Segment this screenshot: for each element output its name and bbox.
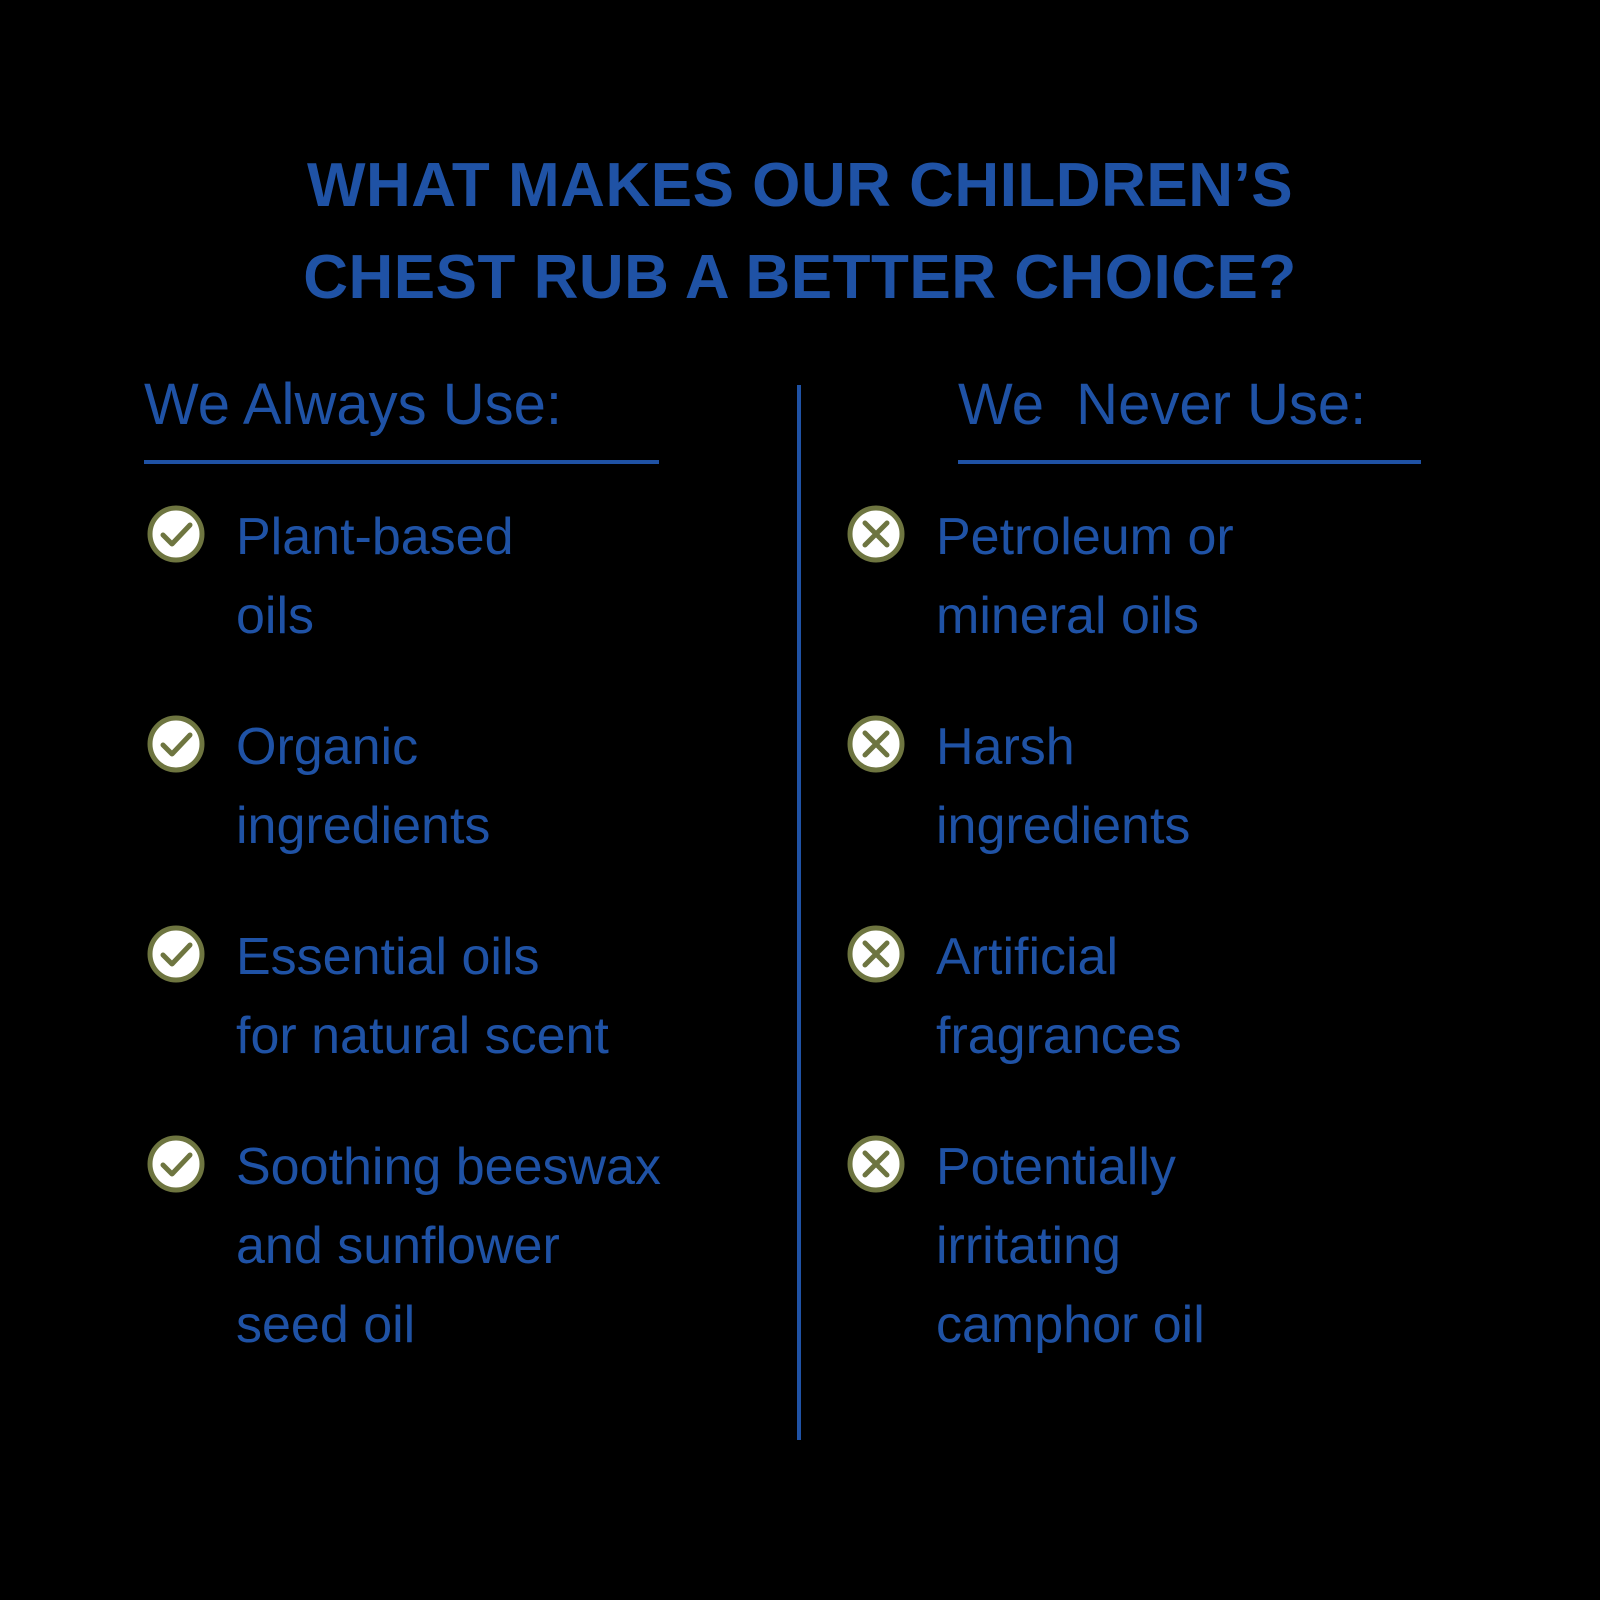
column-heading-never: We Never Use: [840,370,1480,440]
list-item-label: Potentially irritating camphor oil [936,1128,1480,1365]
list-item-label: Soothing beeswax and sunflower seed oil [236,1128,780,1365]
list-item-label: Harsh ingredients [936,708,1480,866]
x-circle-icon [846,504,906,564]
list-item: Soothing beeswax and sunflower seed oil [140,1128,780,1365]
list-item: Plant-based oils [140,498,780,656]
x-circle-icon [846,924,906,984]
column-always-use: We Always Use: Plant-based oils [140,370,780,1365]
list-item-label: Petroleum or mineral oils [936,498,1480,656]
list-item: Essential oils for natural scent [140,918,780,1076]
check-circle-icon [146,714,206,774]
title-line-2: CHEST RUB A BETTER CHOICE? [0,232,1600,324]
list-item: Artificial fragrances [840,918,1480,1076]
list-item-label: Plant-based oils [236,498,780,656]
page-title: WHAT MAKES OUR CHILDREN’S CHEST RUB A BE… [0,140,1600,324]
list-item-label: Organic ingredients [236,708,780,866]
list-item: Potentially irritating camphor oil [840,1128,1480,1365]
x-circle-icon [846,714,906,774]
infographic-canvas: WHAT MAKES OUR CHILDREN’S CHEST RUB A BE… [0,0,1600,1600]
check-circle-icon [146,1134,206,1194]
list-item-label: Artificial fragrances [936,918,1480,1076]
list-item-label: Essential oils for natural scent [236,918,780,1076]
list-item: Petroleum or mineral oils [840,498,1480,656]
list-item: Organic ingredients [140,708,780,866]
check-circle-icon [146,504,206,564]
list-item: Harsh ingredients [840,708,1480,866]
list-never-use: Petroleum or mineral oils Harsh ingredie… [840,498,1480,1365]
column-divider [797,385,801,1440]
column-heading-always: We Always Use: [140,370,780,440]
column-heading-underline-always [144,460,659,464]
column-heading-underline-never [958,460,1421,464]
list-always-use: Plant-based oils Organic ingredients [140,498,780,1365]
check-circle-icon [146,924,206,984]
x-circle-icon [846,1134,906,1194]
column-never-use: We Never Use: Petroleum or mineral oils [840,370,1480,1365]
title-line-1: WHAT MAKES OUR CHILDREN’S [0,140,1600,232]
